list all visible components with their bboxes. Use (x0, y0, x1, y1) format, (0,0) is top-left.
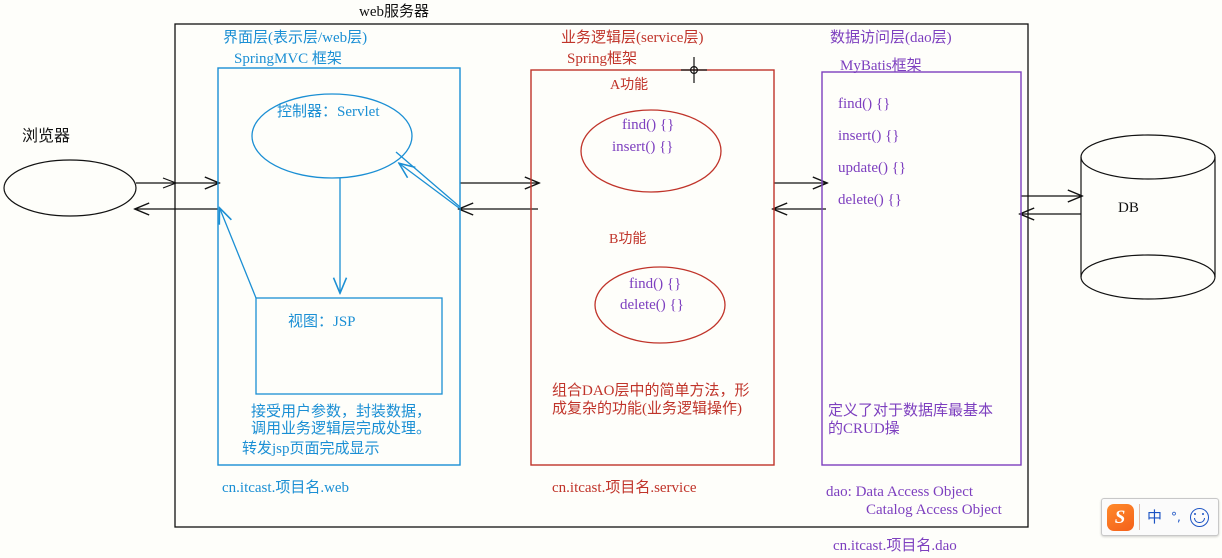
web-layer-description-line-1: 接受用户参数，封装数据， (251, 404, 431, 421)
web-layer-title: 界面层(表示层/web层) (223, 30, 367, 47)
view-label: 视图：JSP (288, 314, 356, 331)
service-layer-title: 业务逻辑层(service层) (561, 30, 703, 47)
service-layer-description-line-1: 组合DAO层中的简单方法，形 (552, 383, 750, 400)
dao-method-1: find() {} (838, 96, 890, 113)
dao-acronym-line-1: dao: Data Access Object (826, 484, 973, 501)
sogou-logo-icon[interactable]: S (1103, 500, 1137, 534)
browser-shape (4, 160, 136, 216)
dao-method-3: update() {} (838, 160, 906, 177)
browser-label: 浏览器 (22, 128, 70, 146)
crosshair-cursor (681, 57, 707, 83)
web-layer-framework: SpringMVC 框架 (234, 51, 342, 68)
dao-layer-title: 数据访问层(dao层) (830, 30, 952, 47)
db-shape (1081, 135, 1215, 299)
dao-method-2: insert() {} (838, 128, 899, 145)
dao-layer-description-line-2: 的CRUD操 (828, 421, 900, 438)
arrow-controller-to-service-edge (396, 152, 460, 207)
sogou-ime-bar[interactable]: S 中 °, (1101, 498, 1219, 536)
ime-punctuation-toggle[interactable]: °, (1171, 511, 1181, 523)
ime-language-mode-toggle[interactable]: 中 (1147, 510, 1162, 525)
service-layer-description-line-2: 成复杂的功能(业务逻辑操作) (552, 401, 742, 418)
function-a-label: A功能 (610, 78, 648, 94)
view-box (256, 298, 442, 394)
dao-acronym-line-2: Catalog Access Object (866, 502, 1002, 519)
diagram-canvas: web服务器 浏览器 DB 界面层(表示层/web层) SpringMVC 框架… (0, 0, 1222, 558)
web-layer-description-line-2: 调用业务逻辑层完成处理。 (251, 421, 431, 438)
controller-label: 控制器：Servlet (277, 104, 380, 121)
web-layer-package: cn.itcast.项目名.web (222, 480, 349, 497)
smiley-icon[interactable] (1190, 508, 1209, 527)
function-a-method-2: insert() {} (612, 139, 673, 156)
dao-layer-framework: MyBatis框架 (840, 58, 922, 75)
dao-layer-package: cn.itcast.项目名.dao (833, 538, 957, 555)
function-b-method-2: delete() {} (620, 297, 684, 314)
sogou-logo-letter: S (1107, 504, 1134, 531)
service-layer-framework: Spring框架 (567, 51, 637, 68)
dao-layer-description-line-1: 定义了对于数据库最基本 (828, 403, 993, 420)
dao-method-4: delete() {} (838, 192, 902, 209)
function-a-method-1: find() {} (622, 117, 674, 134)
arrow-browser-to-web (136, 178, 218, 188)
function-b-method-1: find() {} (629, 276, 681, 293)
web-layer-description-line-3: 转发jsp页面完成显示 (242, 441, 380, 458)
service-layer-package: cn.itcast.项目名.service (552, 480, 697, 497)
arrow-view-to-response (220, 209, 256, 298)
diagram-title: web服务器 (359, 4, 429, 21)
arrow-service-response-to-controller (400, 164, 459, 208)
db-label: DB (1118, 200, 1139, 217)
function-b-label: B功能 (609, 232, 646, 248)
